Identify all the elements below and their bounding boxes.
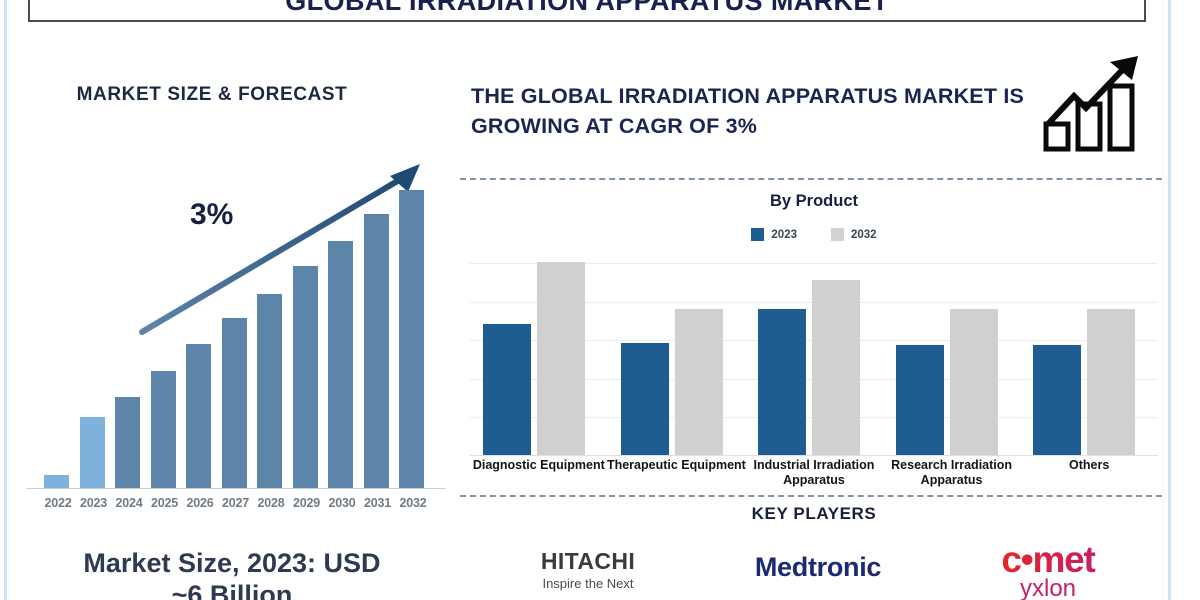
- key-players-logos: HITACHI Inspire the Next Medtronic c•met…: [458, 540, 1170, 600]
- legend-item-2023: 2023: [751, 228, 797, 241]
- product-bar-2023: [758, 309, 806, 455]
- by-product-title: By Product: [458, 192, 1170, 211]
- forecast-bar: [115, 397, 140, 488]
- product-bar-group: [608, 244, 746, 455]
- forecast-year-label: 2026: [181, 496, 219, 510]
- by-product-chart: [464, 244, 1164, 456]
- forecast-year-label: 2032: [394, 496, 432, 510]
- forecast-bar-slot: [76, 160, 110, 488]
- product-category-label: Others: [1012, 458, 1166, 473]
- forecast-bar-slot: [111, 160, 145, 488]
- market-size-forecast-heading: MARKET SIZE & FORECAST: [12, 84, 412, 106]
- forecast-year-label: 2023: [75, 496, 113, 510]
- forecast-year-label: 2022: [39, 496, 77, 510]
- product-bar-2023: [896, 345, 944, 455]
- forecast-bar: [186, 344, 211, 488]
- product-bar-2023: [483, 324, 531, 455]
- legend-swatch-2023: [751, 228, 764, 241]
- divider-top: [460, 178, 1162, 180]
- forecast-year-label: 2025: [146, 496, 184, 510]
- forecast-bar-slot: [253, 160, 287, 488]
- forecast-year-label: 2029: [288, 496, 326, 510]
- forecast-bar-slot: [147, 160, 181, 488]
- market-size-forecast-panel: MARKET SIZE & FORECAST 3% 20222023202420…: [12, 30, 460, 600]
- forecast-bar-slot: [289, 160, 323, 488]
- forecast-year-label: 2030: [323, 496, 361, 510]
- forecast-year-label: 2028: [252, 496, 290, 510]
- product-category-label: Therapeutic Equipment: [600, 458, 754, 473]
- legend-label-2032: 2032: [851, 229, 877, 241]
- hitachi-wordmark: HITACHI: [488, 548, 688, 575]
- forecast-bar-slot: [395, 160, 429, 488]
- hitachi-tagline: Inspire the Next: [488, 576, 688, 591]
- forecast-bar: [399, 190, 424, 488]
- product-bar-2032: [675, 309, 723, 455]
- legend-label-2023: 2023: [771, 229, 797, 241]
- divider-bottom: [460, 495, 1162, 497]
- product-bar-2032: [537, 262, 585, 455]
- by-product-baseline: [470, 455, 1158, 456]
- bar-chart-growth-icon: [1040, 52, 1152, 152]
- yxlon-wordmark: yxlon: [938, 576, 1158, 600]
- forecast-bar-slot: [360, 160, 394, 488]
- forecast-bar: [257, 294, 282, 488]
- comet-wordmark: c•met: [938, 541, 1158, 578]
- forecast-bar: [44, 475, 69, 488]
- market-size-line-1: Market Size, 2023: USD: [12, 548, 452, 580]
- left-chart-baseline: [26, 488, 446, 489]
- forecast-bar: [151, 371, 176, 488]
- forecast-bar-slot: [324, 160, 358, 488]
- forecast-year-label: 2024: [110, 496, 148, 510]
- left-chart-plot: [26, 160, 446, 488]
- left-frame-border-inner: [9, 0, 10, 600]
- product-bar-group: [470, 244, 608, 455]
- product-bar-group: [1020, 244, 1158, 455]
- forecast-bar-slot: [182, 160, 216, 488]
- forecast-year-label: 2027: [217, 496, 255, 510]
- market-size-value: Market Size, 2023: USD ~6 Billion: [12, 548, 452, 600]
- infographic-page: GLOBAL IRRADIATION APPARATUS MARKET MARK…: [0, 0, 1200, 600]
- by-product-plot: [470, 244, 1158, 456]
- product-bar-2023: [621, 343, 669, 455]
- forecast-bar-slot: [218, 160, 252, 488]
- forecast-bar-slot: [40, 160, 74, 488]
- forecast-bar: [293, 266, 318, 488]
- product-bar-group: [883, 244, 1021, 455]
- logo-medtronic: Medtronic: [708, 552, 928, 583]
- key-players-title: KEY PLAYERS: [458, 504, 1170, 524]
- product-bar-2032: [812, 280, 860, 455]
- chart-legend: 2023 2032: [458, 228, 1170, 241]
- product-bar-group: [745, 244, 883, 455]
- legend-swatch-2032: [831, 228, 844, 241]
- product-category-label: Diagnostic Equipment: [462, 458, 616, 473]
- forecast-bar: [328, 241, 353, 488]
- forecast-bar: [364, 214, 389, 488]
- logo-comet-yxlon: c•met yxlon: [938, 541, 1158, 600]
- market-size-line-2: ~6 Billion: [12, 580, 452, 600]
- forecast-year-label: 2031: [359, 496, 397, 510]
- cagr-headline: THE GLOBAL IRRADIATION APPARATUS MARKET …: [471, 82, 1041, 141]
- product-category-label: Research Irradiation Apparatus: [875, 458, 1029, 489]
- product-category-label: Industrial Irradiation Apparatus: [737, 458, 891, 489]
- by-product-panel: THE GLOBAL IRRADIATION APPARATUS MARKET …: [458, 0, 1170, 600]
- product-bar-2032: [1087, 309, 1135, 455]
- forecast-bar: [222, 318, 247, 488]
- product-bar-2023: [1033, 345, 1081, 455]
- forecast-bar: [80, 417, 105, 488]
- market-size-forecast-chart: 2022202320242025202620272028202920302031…: [26, 160, 446, 518]
- logo-hitachi: HITACHI Inspire the Next: [488, 548, 688, 591]
- legend-item-2032: 2032: [831, 228, 877, 241]
- left-frame-border: [4, 0, 7, 600]
- medtronic-wordmark: Medtronic: [708, 552, 928, 583]
- product-bar-2032: [950, 309, 998, 455]
